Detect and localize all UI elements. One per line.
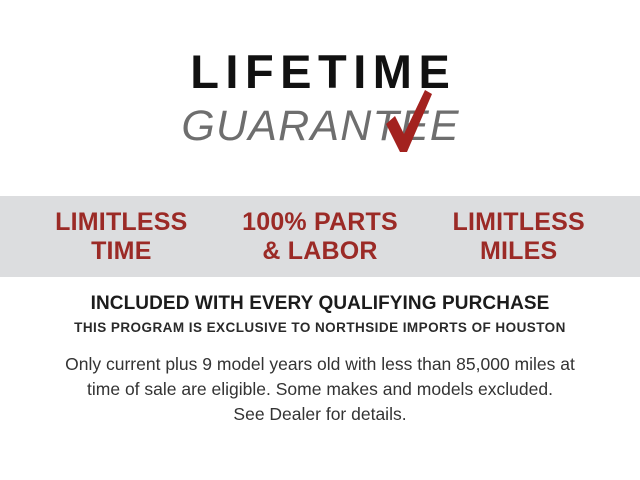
fineprint-line: time of sale are eligible. Some makes an…	[42, 377, 598, 402]
subheadline: THIS PROGRAM IS EXCLUSIVE TO NORTHSIDE I…	[0, 319, 640, 337]
benefit-limitless-time: LIMITLESS TIME	[22, 208, 221, 266]
lower-copy: INCLUDED WITH EVERY QUALIFYING PURCHASE …	[0, 292, 640, 427]
benefit-line-1: LIMITLESS	[419, 208, 618, 237]
benefit-line-1: 100% PARTS	[221, 208, 420, 237]
lifetime-guarantee-ad: LIFETIME GUARANTEE LIMITLESS TIME 100% P…	[0, 0, 640, 480]
fineprint-line: See Dealer for details.	[42, 402, 598, 427]
fineprint-line: Only current plus 9 model years old with…	[42, 352, 598, 377]
benefits-band: LIMITLESS TIME 100% PARTS & LABOR LIMITL…	[0, 196, 640, 277]
headline: INCLUDED WITH EVERY QUALIFYING PURCHASE	[0, 292, 640, 316]
benefit-line-1: LIMITLESS	[22, 208, 221, 237]
logo-lockup: LIFETIME GUARANTEE	[0, 46, 640, 158]
benefit-parts-and-labor: 100% PARTS & LABOR	[221, 208, 420, 266]
benefit-limitless-miles: LIMITLESS MILES	[419, 208, 618, 266]
logo-word-lifetime: LIFETIME	[0, 46, 640, 98]
benefit-line-2: MILES	[419, 237, 618, 266]
benefit-line-2: & LABOR	[221, 237, 420, 266]
logo-word-guarantee: GUARANTEE	[0, 102, 640, 150]
benefit-line-2: TIME	[22, 237, 221, 266]
fineprint-block: Only current plus 9 model years old with…	[42, 352, 598, 427]
